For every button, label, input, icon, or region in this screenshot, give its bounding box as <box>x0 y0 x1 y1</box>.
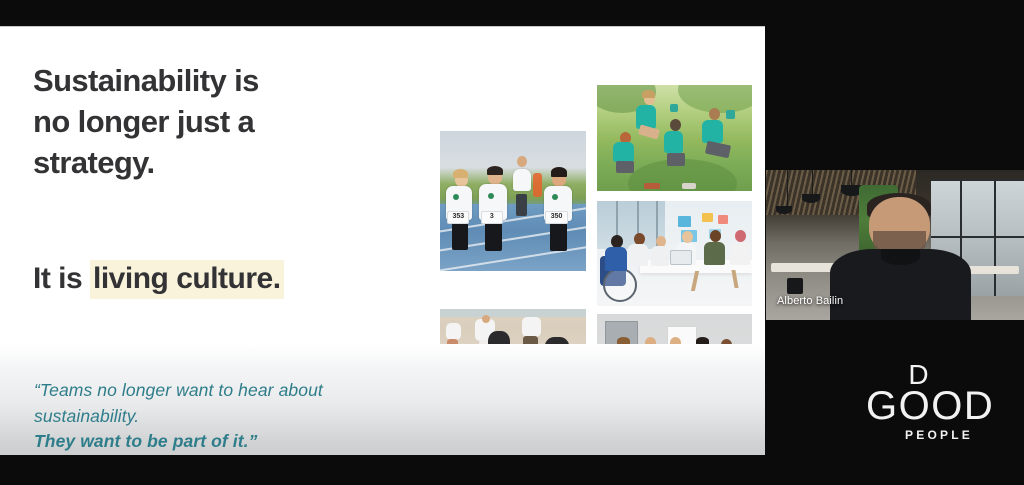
headline-line-2: no longer just a <box>33 101 423 142</box>
quote-line-3: They want to be part of it.” <box>34 429 484 455</box>
speaker-video-tile[interactable]: Alberto Bailin <box>766 170 1024 320</box>
pull-quote: “Teams no longer want to hear about sust… <box>34 378 484 455</box>
photo-charity-run-team: 353 3 350 <box>440 131 586 271</box>
kicker-prefix: It is <box>33 262 90 295</box>
photo-content <box>597 201 752 306</box>
photo-content: 353 3 350 <box>440 131 586 271</box>
logo-word-people: PEOPLE <box>892 428 986 442</box>
participant-name-label: Alberto Bailin <box>777 295 843 307</box>
brand-logo: D GOOD PEOPLE <box>866 362 986 442</box>
quote-line-1: “Teams no longer want to hear about <box>34 378 484 404</box>
headline-line-3: strategy. <box>33 142 423 183</box>
speaker-figure <box>851 197 949 320</box>
slide-kicker: It is living culture. <box>33 262 284 296</box>
screen-recording-frame: Sustainability is no longer just a strat… <box>0 0 1024 485</box>
slide-headline: Sustainability is no longer just a strat… <box>33 60 423 184</box>
photo-content <box>597 85 752 191</box>
presentation-slide: Sustainability is no longer just a strat… <box>0 26 765 455</box>
headline-line-1: Sustainability is <box>33 60 423 101</box>
photo-inclusive-office-meeting <box>597 201 752 306</box>
slide-top-divider <box>0 26 765 27</box>
photo-volunteers-planting <box>597 85 752 191</box>
kicker-highlight: living culture. <box>90 260 284 299</box>
logo-word-good: GOOD <box>866 388 986 425</box>
quote-line-2: sustainability. <box>34 404 484 430</box>
